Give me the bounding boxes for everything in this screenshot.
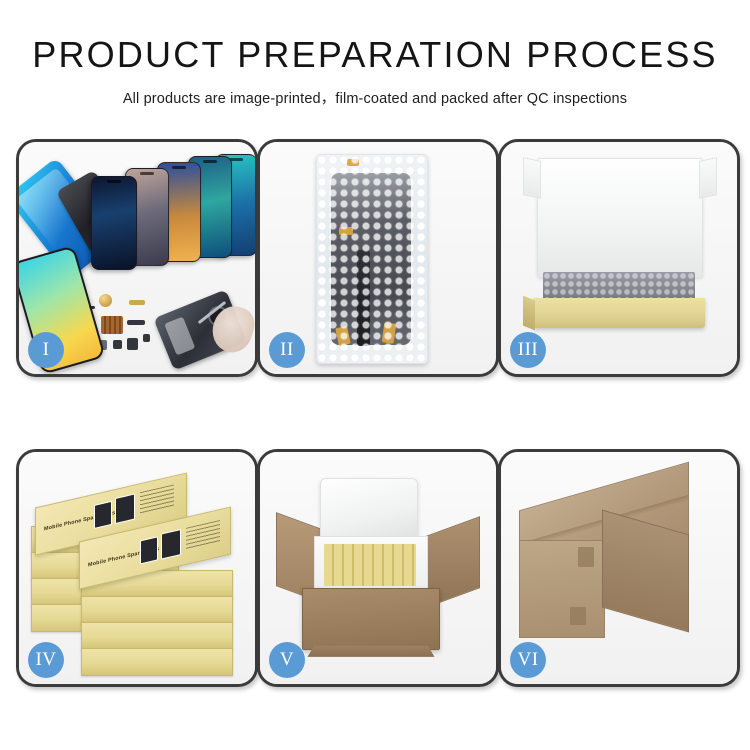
step-badge-5: V <box>269 642 305 678</box>
stacked-box <box>81 596 233 624</box>
camera-module-part-icon <box>127 338 138 350</box>
step-badge-2: II <box>269 332 305 368</box>
carton-front-face <box>519 540 605 638</box>
box-product-image <box>140 536 158 564</box>
step-panel-4: Mobile Phone Spare Parts Mobile Phone Sp… <box>16 449 258 687</box>
box-product-image <box>115 493 135 524</box>
stacked-box <box>81 622 233 650</box>
page-subtitle: All products are image-printed，film-coat… <box>0 87 750 108</box>
box-spec-lines <box>186 520 220 550</box>
shipping-carton-open <box>302 588 440 650</box>
box-product-image <box>94 501 112 529</box>
process-steps-grid: I II III <box>16 139 734 681</box>
step-panel-5: V <box>257 449 499 687</box>
speaker-part-icon <box>99 294 112 307</box>
bubble-wrap-bag <box>316 154 428 364</box>
step-panel-6: VI <box>498 449 740 687</box>
step-panel-1: I <box>16 139 258 377</box>
flex-cable <box>357 250 370 346</box>
phone-fan-group <box>85 154 253 274</box>
small-part-icon <box>113 340 122 349</box>
circuit-board-part-icon <box>101 316 123 334</box>
yellow-tape-icon <box>339 227 353 235</box>
screw-part-icon <box>143 334 150 342</box>
wrapped-screen <box>331 173 411 345</box>
box-spec-lines <box>140 484 174 514</box>
box-stack: Mobile Phone Spare Parts Mobile Phone Sp… <box>31 474 243 670</box>
step-badge-4: IV <box>28 642 64 678</box>
yellow-tape-icon <box>347 159 359 166</box>
yellow-boxes-inside <box>324 544 416 586</box>
flex-cable-part-icon <box>127 320 145 325</box>
page-header: PRODUCT PREPARATION PROCESS All products… <box>0 0 750 108</box>
foam-box-lid <box>320 478 418 542</box>
carton-tape-icon <box>570 607 586 625</box>
step-badge-6: VI <box>510 642 546 678</box>
page-title: PRODUCT PREPARATION PROCESS <box>0 36 750 74</box>
step-panel-3: III <box>498 139 740 377</box>
yellow-box-tray <box>533 298 705 328</box>
phone-notch-icon <box>172 166 186 169</box>
phone-device-1 <box>91 176 137 270</box>
phone-notch-icon <box>203 160 217 163</box>
step-panel-2: II <box>257 139 499 377</box>
white-foam-lid <box>537 158 703 278</box>
step-badge-1: I <box>28 332 64 368</box>
step-badge-3: III <box>510 332 546 368</box>
flex-cable-part-icon <box>129 300 145 305</box>
carton-tape-icon <box>578 547 594 567</box>
stacked-box <box>81 648 233 676</box>
phone-notch-icon <box>140 172 154 175</box>
box-product-image <box>161 529 181 560</box>
phone-notch-icon <box>107 180 121 183</box>
